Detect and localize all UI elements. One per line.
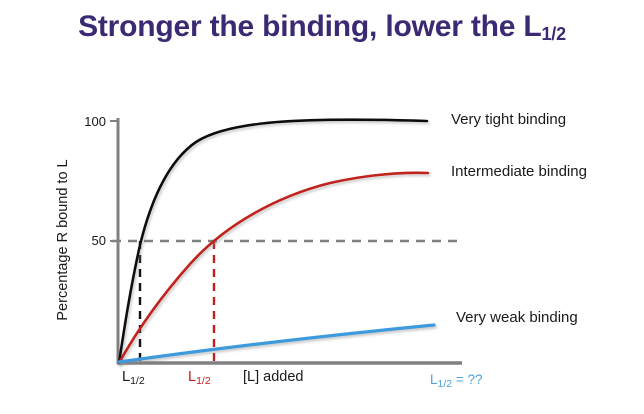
y-tick-label-100: 100	[68, 114, 106, 129]
annotation-l-half-tight-letter: L	[122, 369, 130, 385]
curve-very-weak-binding	[119, 325, 434, 362]
slide-canvas: Stronger the binding, lower the L1/2 Per…	[0, 0, 644, 414]
y-tick-label-50: 50	[68, 233, 106, 248]
annotation-l-half-weak-subscript: 1/2	[438, 378, 453, 390]
annotation-l-half-intermediate-letter: L	[188, 369, 196, 385]
series-label-very-tight-binding: Very tight binding	[451, 111, 566, 128]
binding-curve-chart	[0, 0, 644, 414]
annotation-l-half-weak: L1/2 = ??	[430, 372, 483, 390]
annotation-l-half-weak-letter: L	[430, 372, 438, 387]
series-label-intermediate-binding: Intermediate binding	[451, 163, 587, 180]
annotation-l-half-intermediate: L1/2	[188, 369, 211, 387]
x-axis-title: [L] added	[243, 369, 303, 385]
curve-intermediate-binding	[119, 173, 428, 363]
annotation-l-half-tight-subscript: 1/2	[130, 375, 145, 387]
series-label-very-weak-binding: Very weak binding	[456, 309, 578, 326]
annotation-l-half-tight: L1/2	[122, 369, 145, 387]
annotation-l-half-weak-value: = ??	[452, 372, 482, 387]
annotation-l-half-intermediate-subscript: 1/2	[196, 375, 211, 387]
